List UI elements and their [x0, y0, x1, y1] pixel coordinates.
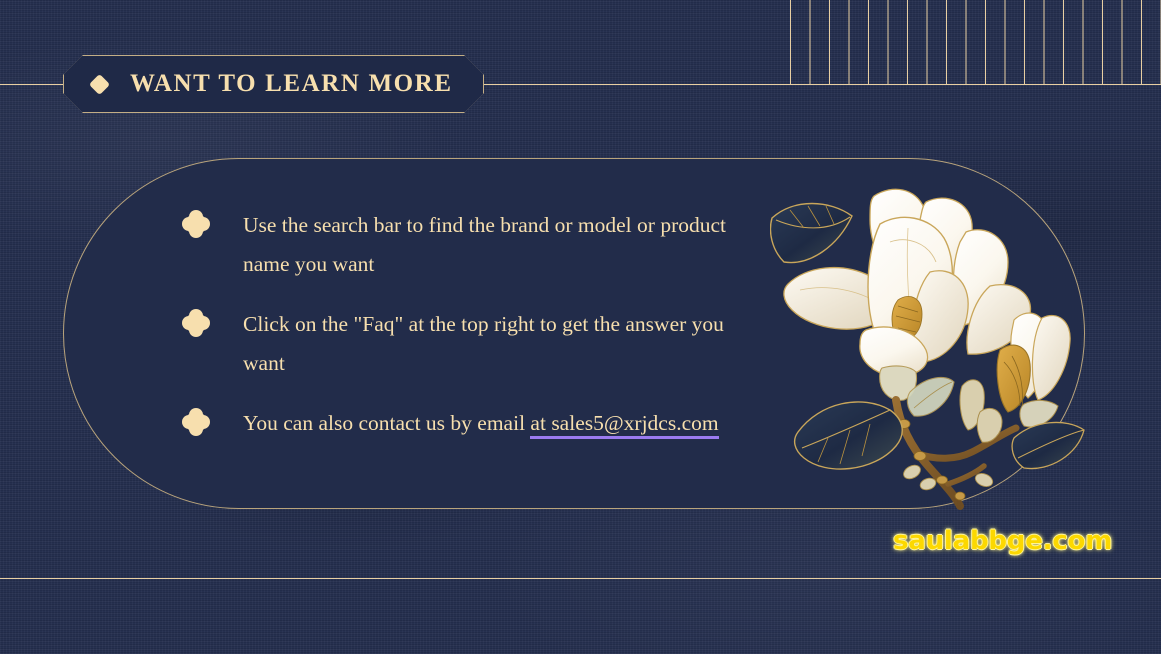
list-item-text: You can also contact us by email at sale…: [243, 404, 719, 443]
instruction-list: Use the search bar to find the brand or …: [182, 206, 762, 464]
page-title: WANT TO LEARN MORE: [130, 70, 453, 98]
slide-canvas: WANT TO LEARN MORE Use the search bar to…: [0, 0, 1161, 654]
list-item-text: Click on the "Faq" at the top right to g…: [243, 305, 762, 383]
top-left-gold-rule: [0, 84, 63, 85]
section-banner: WANT TO LEARN MORE: [63, 55, 484, 113]
list-item: Use the search bar to find the brand or …: [182, 206, 762, 284]
watermark-text: saulabbge.com: [893, 526, 1112, 556]
diamond-icon: [89, 73, 110, 94]
email-link[interactable]: at sales5@xrjdcs.com: [530, 411, 718, 439]
quatrefoil-icon: [182, 210, 210, 238]
list-item-text-prefix: You can also contact us by email: [243, 411, 530, 435]
bottom-gold-rule: [0, 578, 1161, 579]
quatrefoil-icon: [182, 408, 210, 436]
list-item: You can also contact us by email at sale…: [182, 404, 762, 443]
vertical-gold-grid-decoration: [790, 0, 1161, 84]
quatrefoil-icon: [182, 309, 210, 337]
top-right-gold-rule: [484, 84, 1161, 85]
list-item-text: Use the search bar to find the brand or …: [243, 206, 762, 284]
list-item: Click on the "Faq" at the top right to g…: [182, 305, 762, 383]
